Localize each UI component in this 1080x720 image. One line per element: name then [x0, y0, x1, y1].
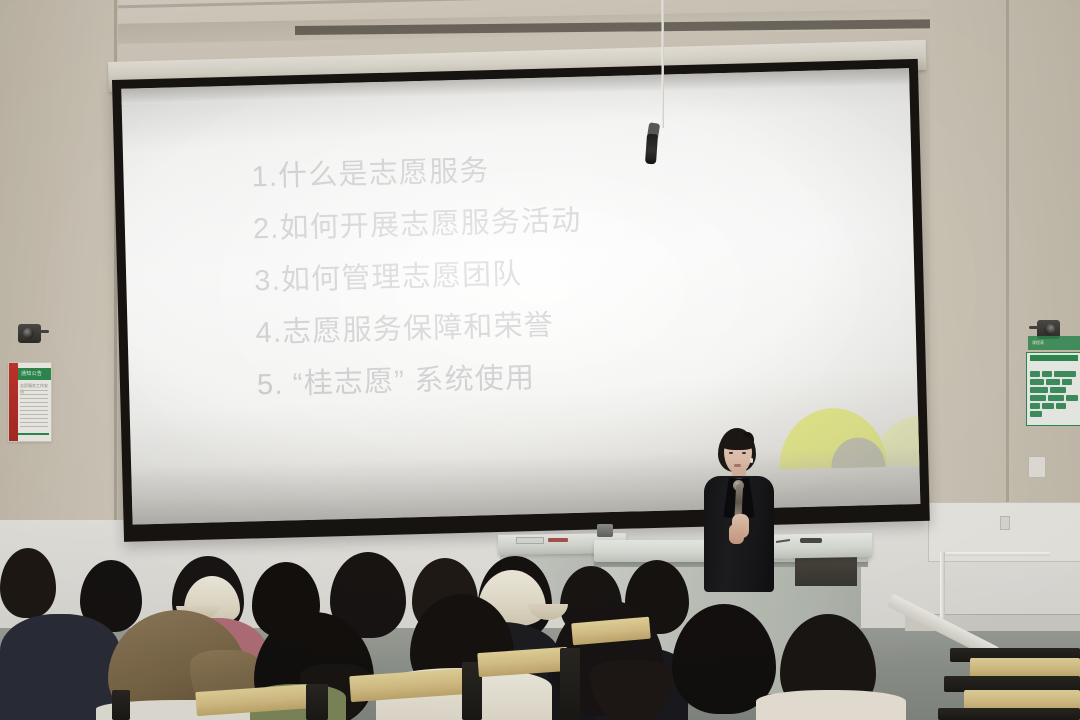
wall-switch[interactable] [1000, 516, 1010, 530]
screen-bottom-shade [131, 446, 920, 525]
desk-frame [306, 684, 328, 720]
camera-lens-icon [1044, 324, 1055, 335]
wall-poster-right [1026, 352, 1080, 426]
console-item-keyboard[interactable] [516, 537, 544, 544]
poster-header-text: 通知公告 [21, 370, 42, 377]
presenter-earring [750, 458, 753, 463]
console-equipment-icon[interactable] [597, 524, 613, 537]
wall-camera-left [18, 322, 48, 346]
projection-screen-surface: 1.什么是志愿服务 2.如何开展志愿服务活动 3.如何管理志愿团队 4.志愿服务… [121, 68, 920, 524]
poster-body-lines [20, 390, 48, 430]
presenter-eye-left [729, 452, 733, 454]
camera-mount-arm [1029, 326, 1039, 329]
poster-grid [1030, 371, 1078, 417]
desk-frame [938, 708, 1080, 720]
classroom-lecture-scene: 1.什么是志愿服务 2.如何开展志愿服务活动 3.如何管理志愿团队 4.志愿服务… [0, 0, 1080, 720]
camera-lens-icon [23, 328, 34, 339]
camera-mount-arm [39, 330, 49, 333]
left-wall-panel [0, 0, 118, 560]
slide-line-4: 4.志愿服务保障和荣誉 [255, 305, 816, 349]
projection-screen-frame: 1.什么是志愿服务 2.如何开展志愿服务活动 3.如何管理志愿团队 4.志愿服务… [112, 59, 930, 542]
student-torso [0, 614, 120, 720]
desk-wing-cavity [795, 556, 857, 586]
slide-agenda-list: 1.什么是志愿服务 2.如何开展志愿服务活动 3.如何管理志愿团队 4.志愿服务… [251, 149, 818, 424]
presenter-mouth [734, 464, 741, 467]
slide-line-2: 2.如何开展志愿服务活动 [253, 201, 814, 245]
poster-accent-strip [9, 363, 18, 441]
wall-conduit-horizontal [940, 552, 1050, 556]
presenter-hand-lower [729, 524, 744, 544]
desk-remote-control[interactable] [800, 538, 822, 543]
desk-surface[interactable] [970, 658, 1080, 678]
right-wall-edge [1006, 0, 1009, 540]
wall-outlet[interactable] [1028, 456, 1046, 478]
presenter-fringe [722, 435, 754, 450]
student-hoodie [756, 690, 906, 720]
slide-line-1: 1.什么是志愿服务 [251, 149, 812, 193]
poster-banner-text: 课程表 [1032, 340, 1044, 346]
slide-line-5: 5. “桂志愿” 系统使用 [257, 357, 818, 401]
wall-poster-right-banner: 课程表 [1028, 336, 1080, 350]
wall-poster-left: 通知公告 志愿服务工作安排 [8, 362, 52, 442]
desk-frame [112, 690, 130, 720]
pull-cord[interactable] [661, 0, 664, 128]
slide-line-3: 3.如何管理志愿团队 [254, 253, 815, 297]
poster-footer-band [18, 433, 49, 435]
pull-cord-handle[interactable] [645, 134, 658, 165]
console-item-marker[interactable] [548, 538, 568, 542]
poster-title-band [1030, 355, 1078, 361]
desk-frame [560, 648, 580, 720]
right-wall-panel [930, 0, 1080, 560]
presenter-eye-right [742, 452, 746, 454]
